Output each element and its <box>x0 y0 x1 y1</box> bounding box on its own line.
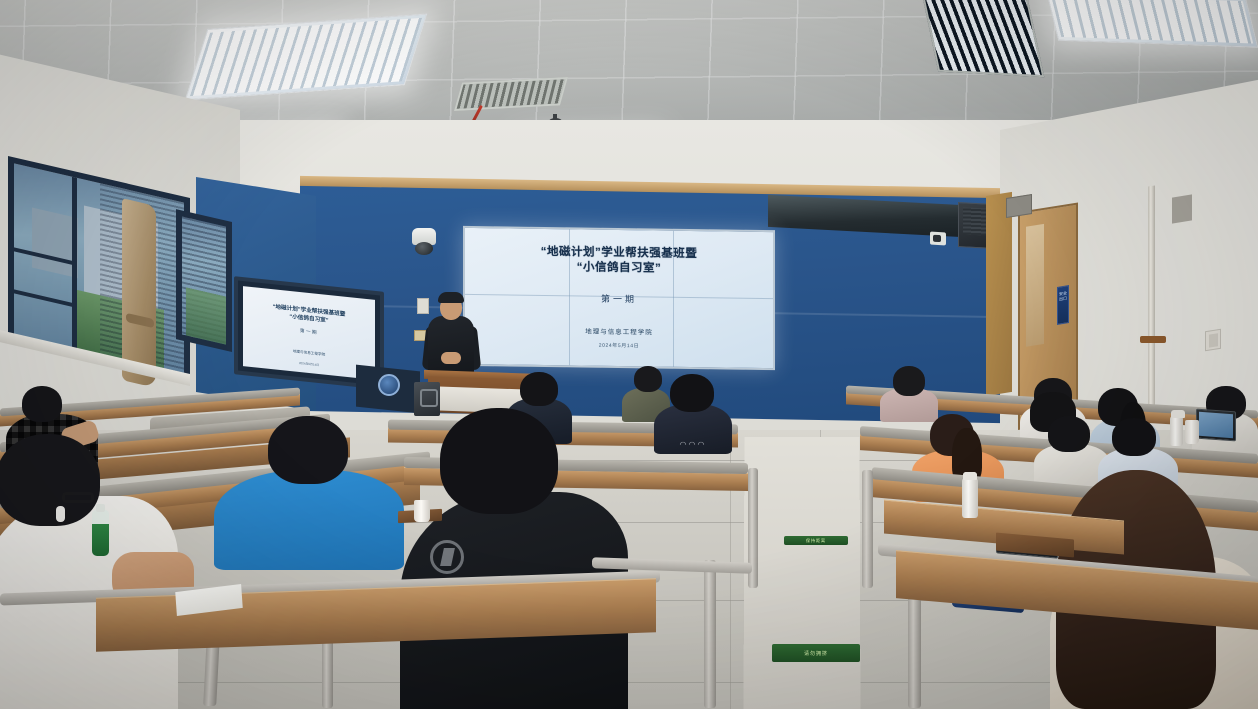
student-earbud <box>56 506 65 522</box>
white-thermos <box>962 478 978 518</box>
exit-sign-label: 安全出口 <box>1058 286 1068 302</box>
wall-notice-plate <box>1172 194 1192 223</box>
student-glasses-icon <box>62 492 94 503</box>
air-vent <box>454 77 568 111</box>
floor-sticker-back-label: 保持距离 <box>806 538 826 544</box>
paper-cup <box>1185 420 1199 444</box>
window-view-trees <box>186 287 232 352</box>
presenter-cap <box>438 292 464 303</box>
exit-sign: 安全出口 <box>1057 285 1069 325</box>
window-left-far <box>176 209 232 352</box>
laptop[interactable] <box>1196 409 1236 442</box>
student-head <box>520 372 558 406</box>
podium-control-unit[interactable] <box>414 382 440 416</box>
floor-sticker-front-label: 请勿拥挤 <box>804 650 828 657</box>
air-vent <box>922 0 1045 77</box>
green-water-bottle[interactable] <box>92 510 109 556</box>
student-head <box>22 386 62 422</box>
student-head <box>1112 418 1156 456</box>
student-head <box>268 416 348 484</box>
center-aisle <box>744 437 861 709</box>
slide-issue: 第一期 <box>465 290 773 307</box>
white-thermos <box>1170 416 1183 446</box>
student-head <box>0 434 100 526</box>
ptz-dome-camera <box>412 228 436 245</box>
door-frame <box>986 192 1012 396</box>
lecture-hall-photo: “地磁计划”学业帮扶强基班暨 “小信鸽自习室” 第一期 地理与信息工程学院 20… <box>0 0 1258 709</box>
wall-conduit <box>1148 185 1155 416</box>
projection-screen: “地磁计划”学业帮扶强基班暨 “小信鸽自习室” 第一期 地理与信息工程学院 20… <box>463 226 775 370</box>
presenter-torso <box>428 316 474 378</box>
desk-leg <box>862 470 873 588</box>
display-logo-badge <box>378 374 400 396</box>
door-glass-panel <box>1026 224 1044 347</box>
student-torso <box>214 470 404 570</box>
slide-date: 2024年5月14日 <box>465 340 773 351</box>
wall-camera <box>930 232 946 246</box>
student-head <box>1048 416 1090 452</box>
tshirt-graphic-text: ◠◠◠ <box>658 440 728 449</box>
presenter-hands <box>441 352 461 364</box>
slide-organization: 地理与信息工程学院 <box>465 324 773 338</box>
slide-title: “地磁计划”学业帮扶强基班暨 “小信鸽自习室” <box>465 244 773 278</box>
floor-sticker-front: 请勿拥挤 <box>772 644 860 662</box>
window-mullion <box>14 289 74 307</box>
student-head <box>634 366 662 392</box>
wall-control-panel[interactable] <box>417 298 429 314</box>
student-head <box>893 366 925 396</box>
desk-leg <box>704 560 716 708</box>
wall-vent-grille <box>1006 194 1032 218</box>
conduit-clamp <box>1140 336 1166 343</box>
paper-cup <box>414 500 430 522</box>
student-head <box>670 374 714 412</box>
slide-title-line2: “小信鸽自习室” <box>465 259 773 278</box>
ceiling-light-panel <box>1046 0 1258 48</box>
floor-sticker-back: 保持距离 <box>784 536 848 545</box>
student-head <box>440 408 558 514</box>
light-switch-plate[interactable] <box>1205 329 1221 352</box>
